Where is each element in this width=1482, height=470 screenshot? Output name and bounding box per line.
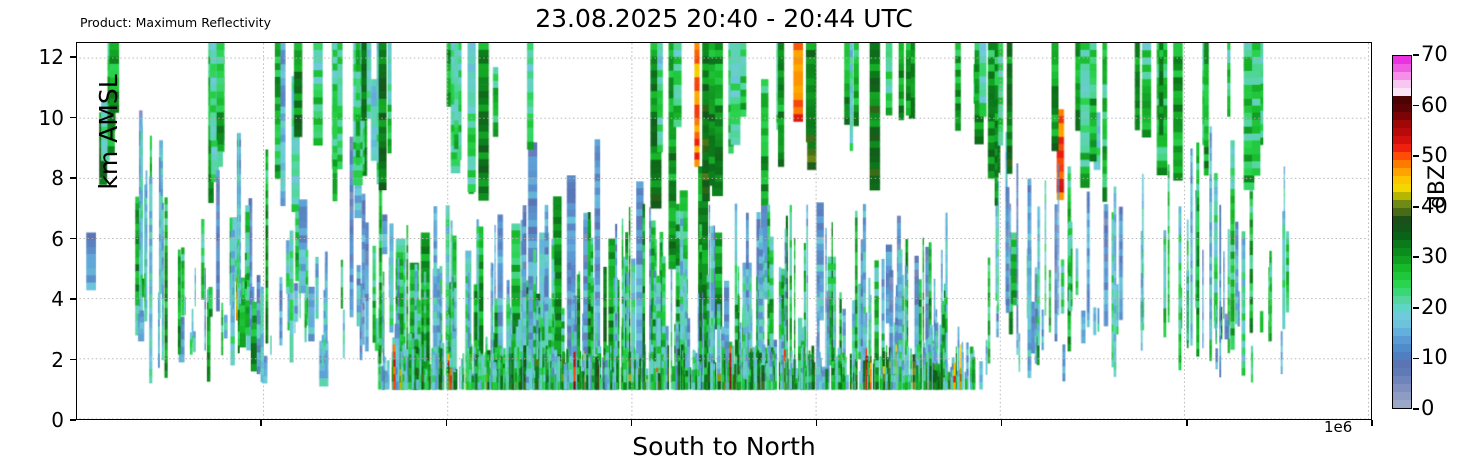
x-tick-mark <box>816 420 817 426</box>
colorbar-segment <box>1393 344 1411 352</box>
colorbar-tick-label: 20 <box>1421 297 1448 318</box>
colorbar-segment <box>1393 64 1411 72</box>
y-tick-mark <box>70 359 76 360</box>
y-tick-mark <box>70 298 76 299</box>
colorbar-tick-label: 0 <box>1421 398 1434 419</box>
colorbar-segment <box>1393 256 1411 264</box>
colorbar-segment <box>1393 296 1411 304</box>
x-tick-mark <box>1371 420 1372 426</box>
y-tick-mark <box>70 56 76 57</box>
colorbar-segment <box>1393 200 1411 208</box>
colorbar-segment <box>1393 280 1411 288</box>
colorbar-tick-mark <box>1413 206 1419 208</box>
colorbar-segment <box>1393 272 1411 280</box>
y-tick-mark <box>70 177 76 178</box>
y-tick-mark <box>70 117 76 118</box>
reflectivity-canvas <box>77 43 1371 419</box>
colorbar-segment <box>1393 208 1411 216</box>
colorbar-segment <box>1393 312 1411 320</box>
colorbar-tick-mark <box>1413 54 1419 56</box>
y-tick-label: 10 <box>0 108 64 128</box>
colorbar-segment <box>1393 184 1411 192</box>
colorbar-segment <box>1393 112 1411 120</box>
colorbar-segment <box>1393 240 1411 248</box>
colorbar-segment <box>1393 216 1411 224</box>
colorbar-segment <box>1393 304 1411 312</box>
colorbar-segment <box>1393 392 1411 400</box>
y-tick-mark <box>70 238 76 239</box>
plot-area <box>76 42 1372 420</box>
colorbar-segment <box>1393 176 1411 184</box>
colorbar-segment <box>1393 152 1411 160</box>
y-tick-label: 8 <box>0 168 64 188</box>
colorbar-segment <box>1393 264 1411 272</box>
colorbar-segment <box>1393 80 1411 88</box>
colorbar-segment <box>1393 248 1411 256</box>
x-axis-label: South to North <box>76 432 1372 462</box>
colorbar-segment <box>1393 352 1411 360</box>
colorbar-segment <box>1393 88 1411 96</box>
colorbar-tick-label: 10 <box>1421 347 1448 368</box>
colorbar-segment <box>1393 400 1411 408</box>
colorbar-segment <box>1393 232 1411 240</box>
colorbar-segment <box>1393 168 1411 176</box>
radar-cross-section-figure: 23.08.2025 20:40 - 20:44 UTC Product: Ma… <box>0 0 1482 470</box>
colorbar-tick-mark <box>1413 105 1419 107</box>
colorbar-segment <box>1393 368 1411 376</box>
x-tick-mark <box>260 420 261 426</box>
colorbar <box>1392 55 1412 409</box>
y-tick-label: 0 <box>0 410 64 430</box>
colorbar-segment <box>1393 160 1411 168</box>
colorbar-segment <box>1393 128 1411 136</box>
x-tick-mark <box>1001 420 1002 426</box>
y-tick-label: 12 <box>0 47 64 67</box>
colorbar-segment <box>1393 96 1411 104</box>
colorbar-segment <box>1393 120 1411 128</box>
colorbar-segment <box>1393 336 1411 344</box>
colorbar-segment <box>1393 320 1411 328</box>
colorbar-tick-label: 40 <box>1421 196 1448 217</box>
colorbar-tick-label: 50 <box>1421 145 1448 166</box>
colorbar-tick-label: 30 <box>1421 246 1448 267</box>
colorbar-segment <box>1393 136 1411 144</box>
x-tick-mark <box>631 420 632 426</box>
x-axis-offset-text: 1e6 <box>1324 418 1352 436</box>
colorbar-tick-mark <box>1413 307 1419 309</box>
colorbar-segment <box>1393 104 1411 112</box>
colorbar-segment <box>1393 72 1411 80</box>
colorbar-segment <box>1393 376 1411 384</box>
x-tick-mark <box>446 420 447 426</box>
colorbar-segment <box>1393 56 1411 64</box>
colorbar-segment <box>1393 288 1411 296</box>
y-tick-label: 2 <box>0 350 64 370</box>
y-tick-label: 6 <box>0 229 64 249</box>
colorbar-tick-mark <box>1413 155 1419 157</box>
y-tick-label: 4 <box>0 289 64 309</box>
y-axis-label: km AMSL <box>95 17 123 247</box>
y-tick-mark <box>70 419 76 420</box>
colorbar-segment <box>1393 360 1411 368</box>
colorbar-segment <box>1393 224 1411 232</box>
colorbar-segment <box>1393 192 1411 200</box>
colorbar-segment <box>1393 144 1411 152</box>
colorbar-tick-label: 60 <box>1421 95 1448 116</box>
colorbar-tick-label: 70 <box>1421 44 1448 65</box>
x-tick-mark <box>1186 420 1187 426</box>
colorbar-segment <box>1393 384 1411 392</box>
colorbar-tick-mark <box>1413 358 1419 360</box>
colorbar-tick-mark <box>1413 256 1419 258</box>
colorbar-segment <box>1393 328 1411 336</box>
colorbar-tick-mark <box>1413 408 1419 410</box>
